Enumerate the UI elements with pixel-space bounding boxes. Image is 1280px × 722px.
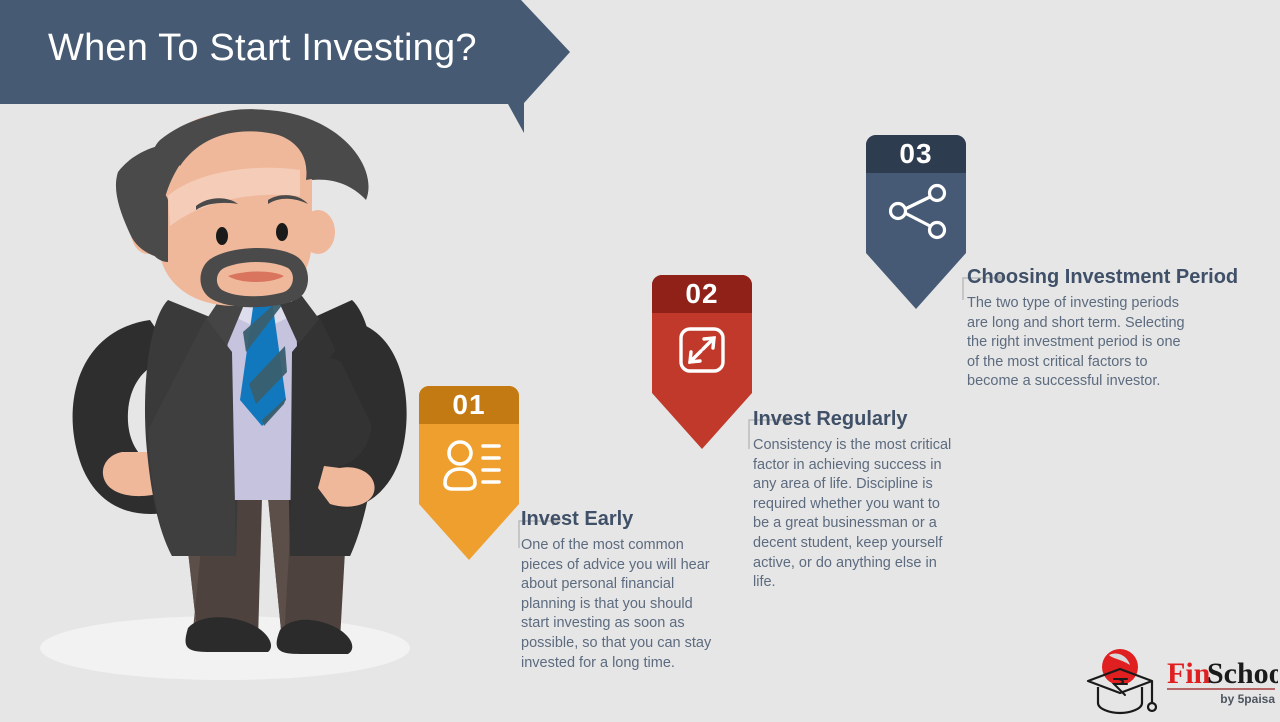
logo-text-school: School	[1207, 657, 1278, 690]
step-text-03: Choosing Investment Period The two type …	[967, 266, 1185, 392]
step-heading-02: Invest Regularly	[753, 408, 953, 431]
step-body-02: Consistency is the most critical factor …	[753, 436, 953, 593]
finschool-logo[interactable]: Fin School by 5paisa	[1083, 645, 1278, 717]
step-pin-01[interactable]: 01	[419, 386, 519, 566]
step-text-01: Invest Early One of the most common piec…	[521, 508, 721, 673]
step-text-02: Invest Regularly Consistency is the most…	[753, 408, 953, 593]
pin-number-02: 02	[652, 275, 752, 313]
step-heading-03: Choosing Investment Period	[967, 266, 1185, 289]
pin-number-01: 01	[419, 386, 519, 424]
logo-text-fin: Fin	[1167, 657, 1211, 690]
infographic-canvas: When To Start Investing?	[0, 0, 1280, 720]
pin-number-03: 03	[866, 135, 966, 173]
step-body-01: One of the most common pieces of advice …	[521, 536, 721, 673]
logo-tagline: by 5paisa	[1220, 692, 1275, 706]
step-heading-01: Invest Early	[521, 508, 721, 531]
step-body-03: The two type of investing periods are lo…	[967, 294, 1185, 392]
logo-artwork: Fin School by 5paisa	[1083, 645, 1278, 717]
step-pin-02[interactable]: 02	[652, 275, 752, 455]
step-pin-03[interactable]: 03	[866, 135, 966, 315]
